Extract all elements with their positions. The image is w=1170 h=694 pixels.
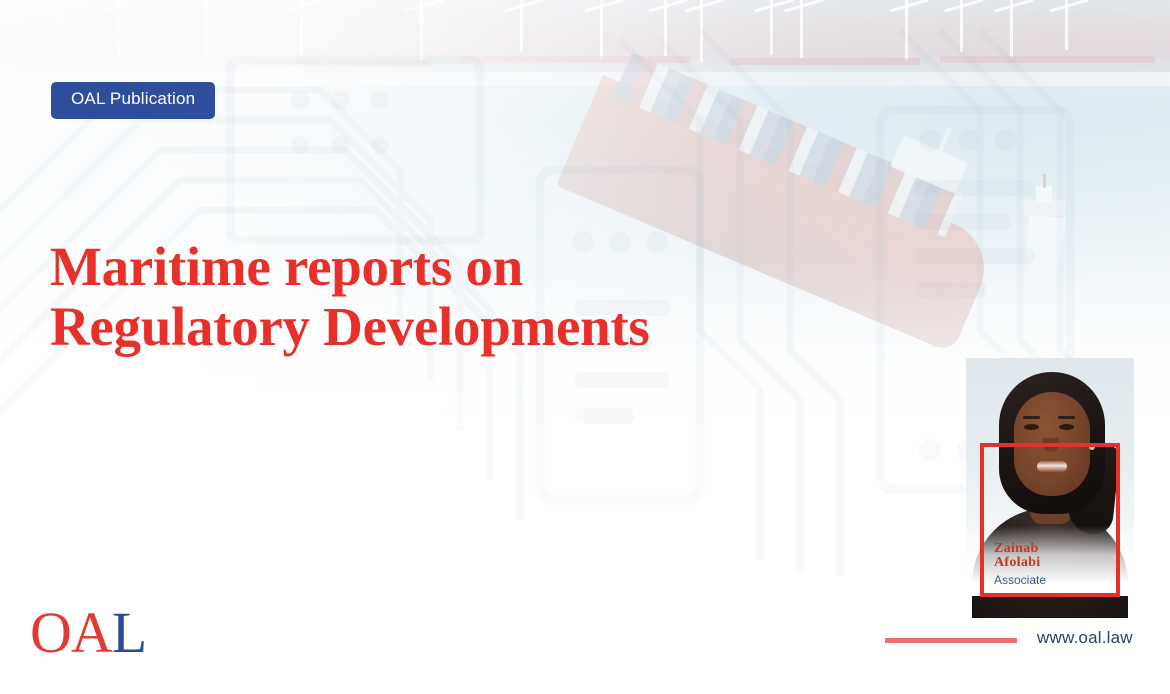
avatar-earring xyxy=(1089,444,1095,450)
avatar-mouth xyxy=(1037,461,1067,472)
avatar-eye-left xyxy=(1024,424,1039,430)
avatar-nose xyxy=(1043,438,1059,452)
website-url[interactable]: www.oal.law xyxy=(1037,628,1133,648)
author-details: Zainab Afolabi Associate xyxy=(994,542,1046,587)
avatar-eye-right xyxy=(1059,424,1074,430)
title-line-2: Regulatory Developments xyxy=(50,297,810,357)
avatar-eyebrow-left xyxy=(1023,416,1040,419)
publication-banner: OAL Publication Maritime reports on Regu… xyxy=(0,0,1170,694)
publication-badge: OAL Publication xyxy=(51,82,215,119)
avatar-eyebrow-right xyxy=(1058,416,1075,419)
oal-logo[interactable]: OAL xyxy=(30,604,146,662)
author-last-name: Afolabi xyxy=(994,556,1046,570)
author-card: Zainab Afolabi Associate xyxy=(980,443,1120,597)
author-first-name: Zainab xyxy=(994,542,1046,556)
author-role: Associate xyxy=(994,574,1046,587)
title-line-1: Maritime reports on xyxy=(50,237,810,297)
footer-divider-rule xyxy=(885,638,1017,643)
logo-text-oa: OA xyxy=(30,600,112,665)
logo-text-l: L xyxy=(112,600,146,665)
avatar-bottom-fade xyxy=(966,526,1134,596)
avatar xyxy=(966,358,1134,596)
page-title: Maritime reports on Regulatory Developme… xyxy=(50,237,810,357)
